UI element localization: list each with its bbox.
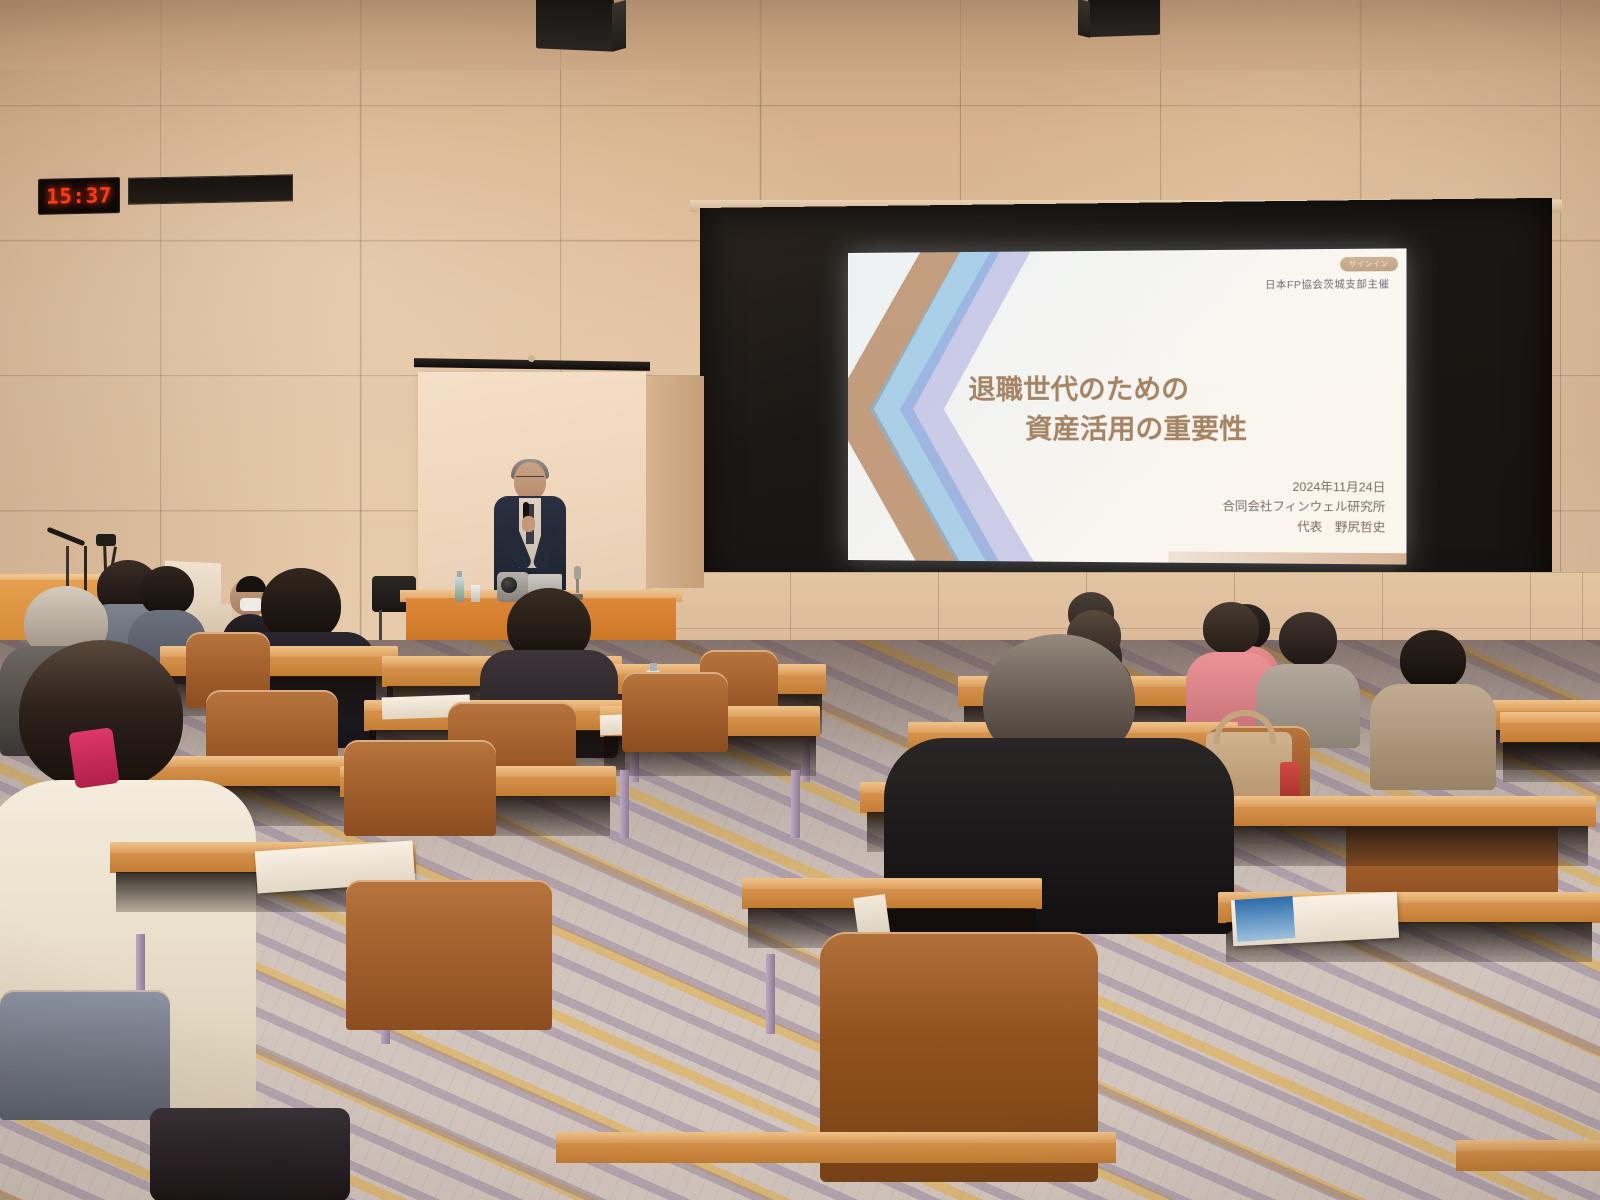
wall-display-panel [128, 174, 293, 204]
seminar-room-photo: 15:37 サインイン 日本FP協会茨城支部主催 退職世代のための 資産活用の重… [0, 0, 1600, 1200]
clock-time-label: 15:37 [46, 183, 112, 208]
presenter-hand [522, 516, 535, 532]
ceiling-speaker-left-icon [536, 0, 614, 52]
water-bottle [455, 576, 464, 602]
attendee-head [1400, 630, 1466, 690]
attendee-head [1279, 612, 1337, 666]
table-row [556, 1132, 1116, 1200]
slide-header-text: 日本FP協会茨城支部主催 [1265, 275, 1390, 291]
chair [622, 672, 728, 752]
slide-title: 退職世代のための 資産活用の重要性 [968, 370, 1383, 451]
table-row [1456, 1140, 1600, 1200]
chair [0, 990, 170, 1120]
ceiling-speaker-right-icon [1088, 0, 1160, 37]
digital-wall-clock: 15:37 [38, 177, 120, 215]
red-pouch [68, 727, 119, 789]
red-pouch [1280, 762, 1300, 800]
slide-meta-block: 2024年11月24日 合同会社フィンウェル研究所 代表 野尻哲史 [1222, 477, 1385, 538]
drinking-glass [471, 585, 480, 602]
slide-title-line2: 資産活用の重要性 [968, 410, 1383, 450]
attendee-body [1370, 684, 1496, 790]
slide-footer-band [1168, 551, 1407, 564]
table-row [1500, 712, 1600, 782]
glasses-icon [516, 476, 544, 482]
stage-side-wall [646, 376, 704, 588]
table-row [1176, 796, 1596, 880]
chair [346, 880, 552, 1030]
list-item [1370, 630, 1496, 790]
chair [344, 740, 496, 836]
slide-presenter: 代表 野尻哲史 [1222, 517, 1385, 538]
slide-title-line1: 退職世代のための [968, 374, 1189, 405]
ceiling-band [0, 0, 1600, 70]
slide-badge: サインイン [1340, 257, 1398, 272]
projection-screen: サインイン 日本FP協会茨城支部主催 退職世代のための 資産活用の重要性 202… [848, 248, 1406, 564]
bag-on-floor [150, 1108, 350, 1200]
slide-company: 合同会社フィンウェル研究所 [1222, 497, 1385, 518]
slide-date: 2024年11月24日 [1222, 477, 1385, 498]
pamphlet [1235, 896, 1296, 942]
attendee-head [140, 566, 194, 616]
pull-down-screen-knob [528, 355, 535, 362]
attendee-head [261, 568, 341, 642]
